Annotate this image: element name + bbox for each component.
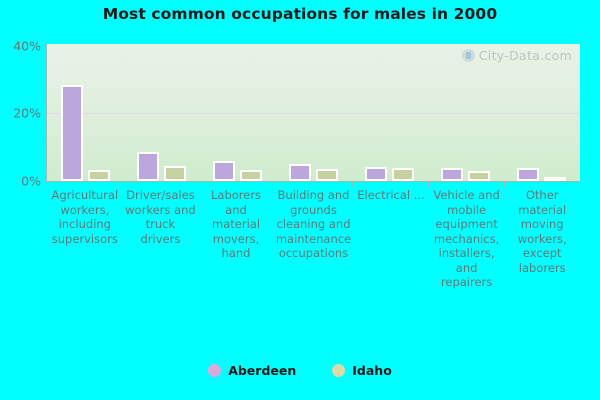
bar-aberdeen-6[interactable]: [441, 168, 463, 181]
x-axis-line: [46, 181, 580, 182]
x-axis-category-labels: Agricultural workers, including supervis…: [47, 188, 580, 313]
legend-swatch-idaho: [332, 364, 345, 377]
separator-4: [352, 181, 353, 187]
category-label-7: Other material moving workers, except la…: [504, 188, 580, 313]
separator-6: [504, 181, 505, 187]
chart-legend: Aberdeen Idaho: [0, 363, 600, 378]
separator-1: [123, 181, 124, 187]
separator-5: [428, 181, 429, 187]
bar-group-2: [123, 44, 199, 181]
bar-idaho-3[interactable]: [240, 170, 262, 181]
bar-aberdeen-1[interactable]: [61, 85, 83, 181]
bar-group-4: [275, 44, 351, 181]
category-label-2: Driver/sales workers and truck drivers: [123, 188, 199, 313]
bar-group-7: [504, 44, 580, 181]
separator-3: [275, 181, 276, 187]
y-tick-20: 20%: [0, 105, 41, 120]
bar-group-6: [428, 44, 504, 181]
bar-aberdeen-3[interactable]: [213, 161, 235, 181]
bar-group-1: [47, 44, 123, 181]
bar-idaho-5[interactable]: [392, 168, 414, 181]
bar-idaho-2[interactable]: [164, 166, 186, 181]
bar-group-3: [199, 44, 275, 181]
bar-group-5: [352, 44, 428, 181]
chart-title: Most common occupations for males in 200…: [0, 5, 600, 23]
bar-aberdeen-7[interactable]: [517, 168, 539, 181]
bar-aberdeen-4[interactable]: [289, 164, 311, 181]
category-label-1: Agricultural workers, including supervis…: [47, 188, 123, 313]
bar-idaho-7[interactable]: [544, 177, 566, 181]
legend-item-aberdeen[interactable]: Aberdeen: [208, 363, 296, 378]
legend-item-idaho[interactable]: Idaho: [332, 363, 392, 378]
category-label-4: Building and grounds cleaning and mainte…: [274, 188, 353, 313]
bar-idaho-4[interactable]: [316, 169, 338, 181]
legend-label-aberdeen: Aberdeen: [228, 363, 296, 378]
category-label-6: Vehicle and mobile equipment mechanics, …: [429, 188, 505, 313]
category-label-3: Laborers and material movers, hand: [198, 188, 274, 313]
separator-2: [199, 181, 200, 187]
bar-idaho-6[interactable]: [468, 171, 490, 181]
bar-groups: [47, 44, 580, 181]
y-tick-0: 0%: [0, 174, 41, 189]
bar-aberdeen-5[interactable]: [365, 167, 387, 181]
legend-label-idaho: Idaho: [352, 363, 392, 378]
legend-swatch-aberdeen: [208, 364, 221, 377]
y-tick-40: 40%: [0, 39, 41, 54]
bar-idaho-1[interactable]: [88, 170, 110, 181]
y-axis-labels: 0% 20% 40%: [0, 44, 41, 181]
chart-root: Most common occupations for males in 200…: [0, 0, 600, 400]
bar-aberdeen-2[interactable]: [137, 152, 159, 181]
category-label-5: Electrical ...: [353, 188, 429, 313]
